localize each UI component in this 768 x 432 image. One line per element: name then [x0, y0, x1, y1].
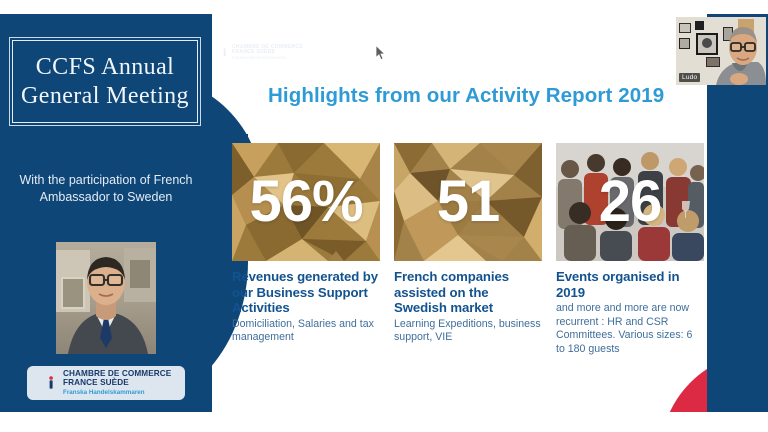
- ccfs-logo-text: CHAMBRE DE COMMERCE FRANCE SUÈDE Franska…: [63, 370, 171, 396]
- event-title-line-2: General Meeting: [21, 82, 189, 110]
- stat-card: 26 Events organised in 2019 and more and…: [556, 143, 704, 393]
- stat-headline: French companies assisted on the Swedish…: [394, 269, 542, 316]
- stat-subtext: and more and more are now recurrent : HR…: [556, 302, 704, 356]
- mouse-cursor-icon: [375, 45, 386, 66]
- stat-headline: Revenues generated by our Business Suppo…: [232, 269, 380, 316]
- stat-subtext: Learning Expeditions, business support, …: [394, 318, 542, 345]
- stat-number: 51: [437, 173, 500, 231]
- stat-subtext: Domiciliation, Salaries and tax manageme…: [232, 318, 380, 345]
- stat-card: 51 French companies assisted on the Swed…: [394, 143, 542, 393]
- webcam-tile-participant[interactable]: Ludo: [676, 17, 766, 85]
- stat-image-gold-polygon: 51: [394, 143, 542, 261]
- ccfs-logo-line-3: Franska Handelskammaren: [63, 390, 171, 396]
- event-title-line-1: CCFS Annual: [36, 53, 174, 81]
- slide-headline: Highlights from our Activity Report 2019: [268, 84, 664, 108]
- stat-image-gold-polygon: 56%: [232, 143, 380, 261]
- header-watermark-logo: CHAMBRE DE COMMERCE FRANCE SUÈDE Franska…: [214, 45, 303, 60]
- watermark-logo-icon: [214, 45, 229, 60]
- webcam-participant-name: Ludo: [679, 73, 700, 82]
- statistics-row: 56% Revenues generated by our Business S…: [232, 143, 702, 393]
- presentation-slide: CCFS Annual General Meeting With the par…: [0, 14, 768, 412]
- participation-line-1: With the participation of French: [8, 172, 204, 189]
- stat-card: 56% Revenues generated by our Business S…: [232, 143, 380, 393]
- meeting-viewport: CCFS Annual General Meeting With the par…: [0, 0, 768, 432]
- slide-title-plate: CCFS Annual General Meeting: [9, 37, 201, 126]
- stat-number: 56%: [249, 173, 362, 231]
- ccfs-logo-icon: [34, 371, 58, 395]
- watermark-logo-text: CHAMBRE DE COMMERCE FRANCE SUÈDE Franska…: [232, 45, 303, 60]
- stat-number: 26: [599, 173, 662, 231]
- slide-title-plate-inner: CCFS Annual General Meeting: [12, 40, 198, 123]
- ccfs-logo-line-2: FRANCE SUÈDE: [63, 379, 171, 387]
- stat-headline: Events organised in 2019: [556, 269, 704, 300]
- participation-note: With the participation of French Ambassa…: [8, 172, 204, 206]
- participation-line-2: Ambassador to Sweden: [8, 189, 204, 206]
- watermark-line-3: Franska Handelskammaren: [232, 56, 303, 60]
- stat-image-networking-event: 26: [556, 143, 704, 261]
- ambassador-portrait-photo: [56, 242, 156, 354]
- ccfs-logo-card: CHAMBRE DE COMMERCE FRANCE SUÈDE Franska…: [27, 366, 185, 400]
